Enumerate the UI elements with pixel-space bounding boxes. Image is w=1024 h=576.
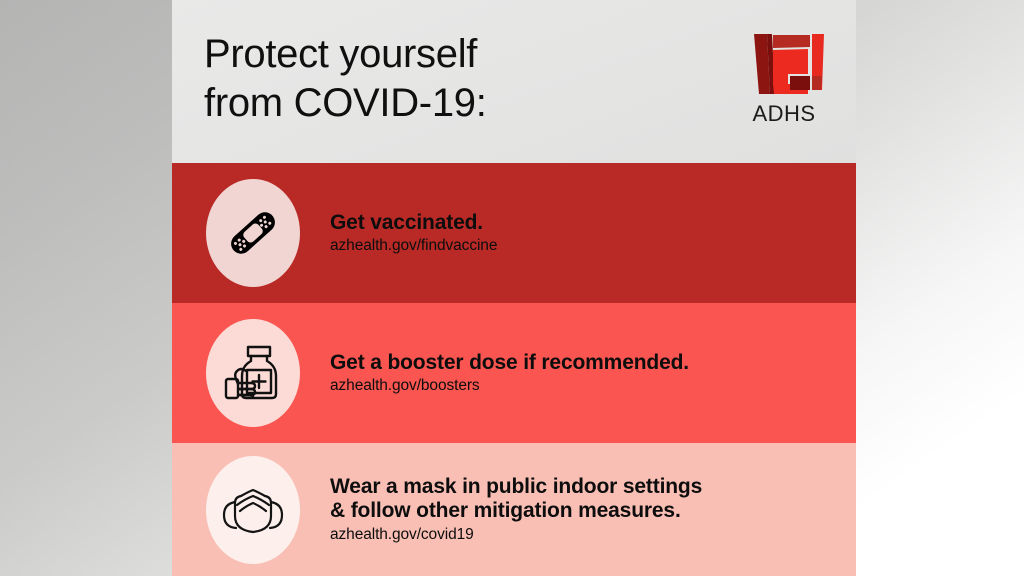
mask-text-block: Wear a mask in public indoor settings & … (330, 475, 856, 544)
row-wear-mask: Wear a mask in public indoor settings & … (172, 443, 856, 576)
vaccinated-title: Get vaccinated. (330, 211, 836, 235)
face-mask-icon (218, 478, 288, 542)
booster-icon-badge (206, 319, 300, 427)
booster-text-block: Get a booster dose if recommended. azhea… (330, 351, 856, 396)
booster-title: Get a booster dose if recommended. (330, 351, 836, 375)
mask-icon-badge (206, 456, 300, 564)
poster-content: Protect yourself from COVID-19: (172, 0, 856, 576)
row-get-vaccinated: Get vaccinated. azhealth.gov/findvaccine (172, 163, 856, 303)
adhs-logo-text: ADHS (736, 101, 832, 127)
row-get-booster: Get a booster dose if recommended. azhea… (172, 303, 856, 443)
vaccinated-url[interactable]: azhealth.gov/findvaccine (330, 237, 836, 255)
vaccinated-text-block: Get vaccinated. azhealth.gov/findvaccine (330, 211, 856, 256)
page-title: Protect yourself from COVID-19: (204, 30, 487, 128)
bandage-icon (221, 201, 285, 265)
vaccinated-icon-badge (206, 179, 300, 287)
adhs-logo-icon (736, 28, 832, 100)
medicine-bottle-hand-icon (220, 340, 286, 406)
poster-stage: Protect yourself from COVID-19: (0, 0, 1024, 576)
mask-title: Wear a mask in public indoor settings & … (330, 475, 836, 523)
poster-header: Protect yourself from COVID-19: (172, 0, 856, 163)
adhs-logo-block: ADHS (736, 28, 832, 127)
booster-url[interactable]: azhealth.gov/boosters (330, 377, 836, 395)
mask-url[interactable]: azhealth.gov/covid19 (330, 526, 836, 544)
